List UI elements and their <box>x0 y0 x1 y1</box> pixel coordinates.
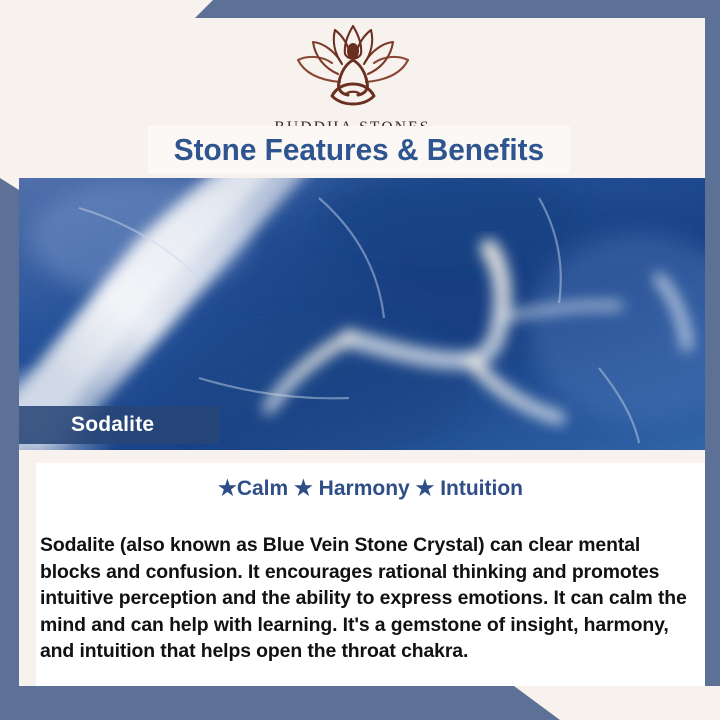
header: BUDDHA STONES Stone Features & Benefits <box>0 18 705 178</box>
stone-name: Sodalite <box>71 413 154 437</box>
content-card: ★Calm ★ Harmony ★ Intuition Sodalite (al… <box>36 463 705 686</box>
page-title-banner: Stone Features & Benefits <box>148 126 570 174</box>
decorative-left-band <box>0 178 19 720</box>
stone-keywords: ★Calm ★ Harmony ★ Intuition <box>36 476 705 501</box>
page-title: Stone Features & Benefits <box>174 132 544 168</box>
decorative-top-bar <box>195 0 720 18</box>
decorative-right-band <box>705 0 720 686</box>
lotus-meditation-icon <box>0 20 705 117</box>
content-top-strip <box>36 450 705 463</box>
brand-logo: BUDDHA STONES <box>0 20 705 137</box>
decorative-bottom-bar <box>0 686 560 720</box>
infographic-page: BUDDHA STONES Stone Features & Benefits <box>0 0 720 720</box>
stone-description: Sodalite (also known as Blue Vein Stone … <box>40 532 695 665</box>
stone-name-label: Sodalite <box>19 406 219 444</box>
